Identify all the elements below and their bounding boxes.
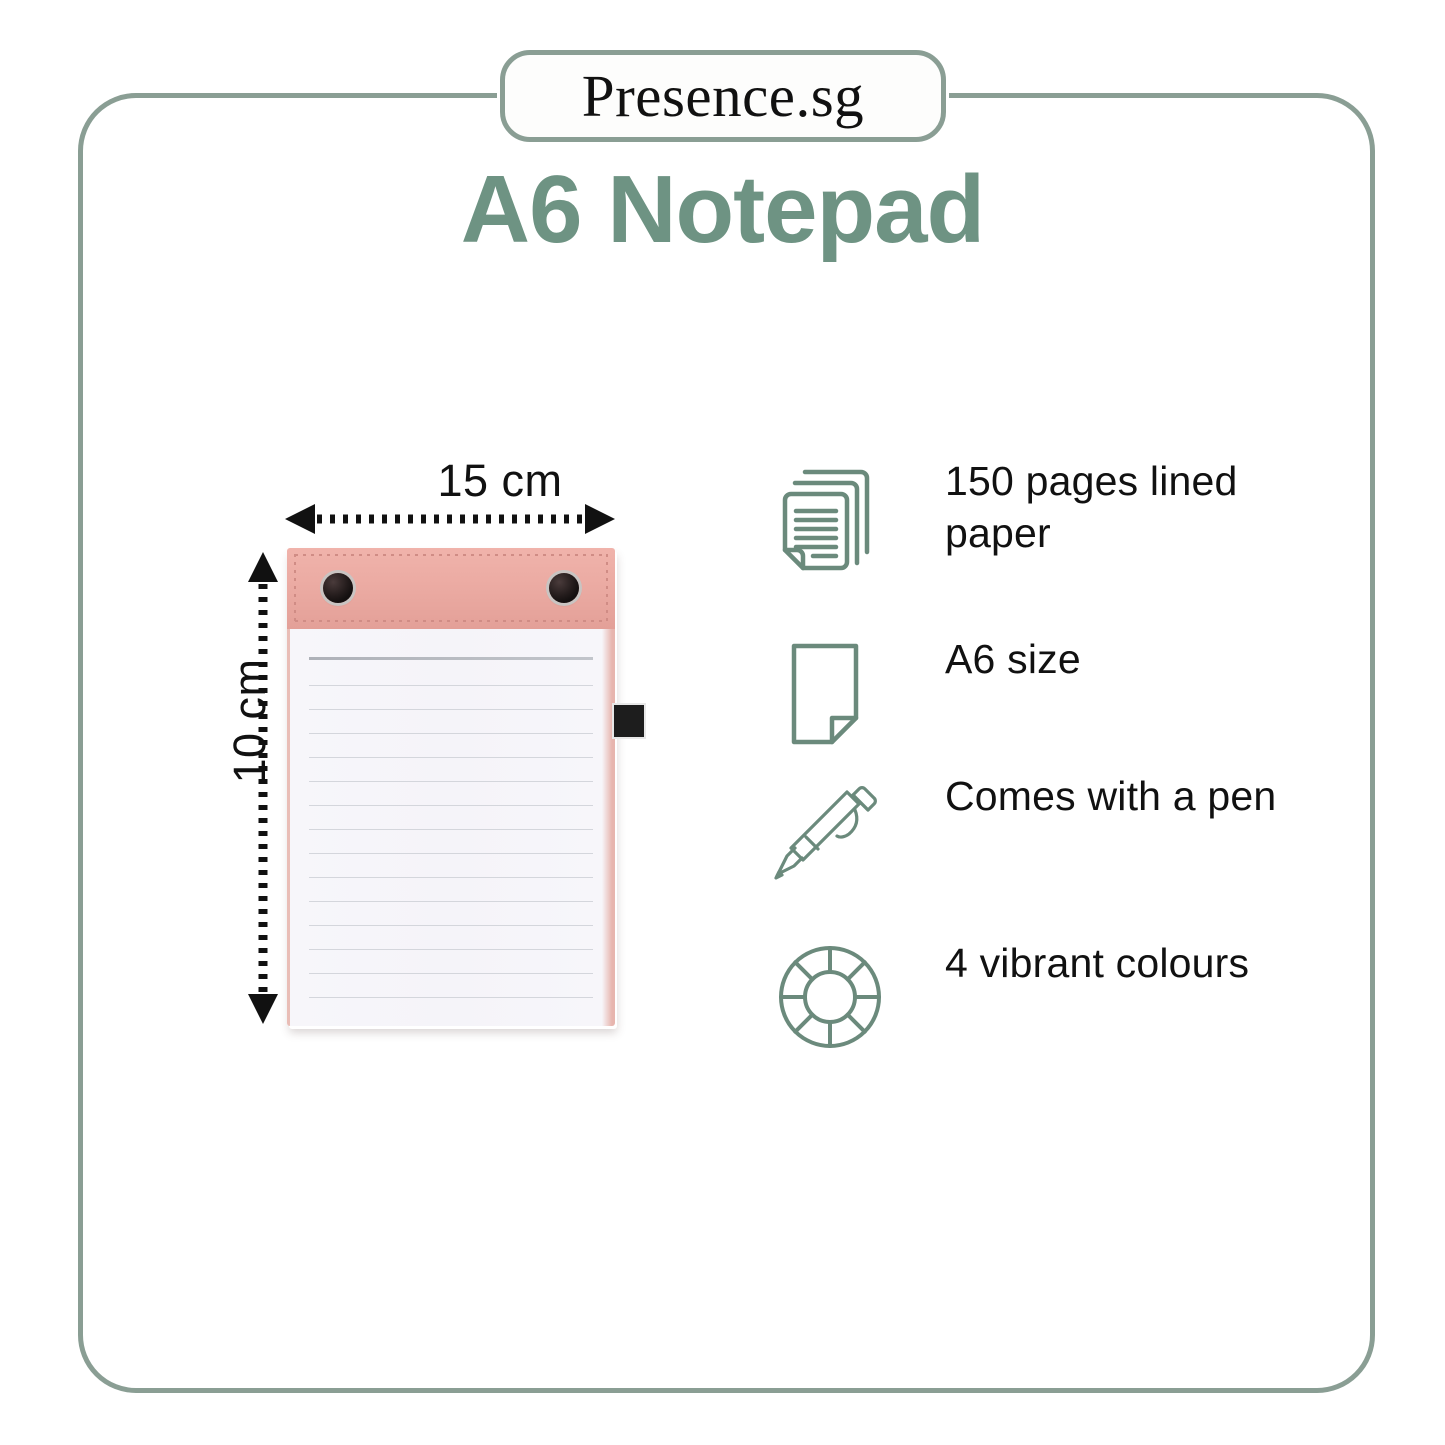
feature-item: 4 vibrant colours	[770, 937, 1330, 1057]
height-dimension-arrow	[246, 552, 280, 1024]
snap-button	[549, 573, 579, 603]
stitch-bottom	[295, 620, 607, 622]
stitch-left	[294, 554, 296, 622]
product-image-area: 15 cm 10 cm	[150, 440, 690, 1060]
width-dimension-arrow	[285, 502, 615, 536]
infographic-page: Presence.sg A6 Notepad 15 cm 10 cm	[0, 0, 1445, 1445]
feature-item: A6 size	[770, 633, 1330, 753]
stitch-top	[295, 554, 607, 556]
stacked-papers-icon	[770, 455, 890, 575]
page-folded-corner-icon	[770, 633, 890, 753]
feature-label: 4 vibrant colours	[890, 937, 1330, 989]
page-title: A6 Notepad	[0, 155, 1445, 265]
notepad-product	[287, 548, 615, 1026]
feature-label: 150 pages lined paper	[890, 455, 1330, 560]
notepad-paper	[287, 629, 615, 1026]
brand-logo-badge: Presence.sg	[500, 50, 946, 142]
notepad-leather-band	[287, 548, 615, 629]
colour-wheel-icon	[770, 937, 890, 1057]
pen-icon	[770, 770, 890, 890]
brand-logo-text: Presence.sg	[582, 67, 864, 126]
feature-label: A6 size	[890, 633, 1330, 685]
stitch-right	[606, 554, 608, 622]
width-dimension-label: 15 cm	[400, 455, 600, 507]
pen-holder-tab	[612, 703, 646, 739]
feature-label: Comes with a pen	[890, 770, 1330, 822]
snap-button	[323, 573, 353, 603]
feature-item: 150 pages lined paper	[770, 455, 1330, 575]
feature-item: Comes with a pen	[770, 770, 1330, 890]
